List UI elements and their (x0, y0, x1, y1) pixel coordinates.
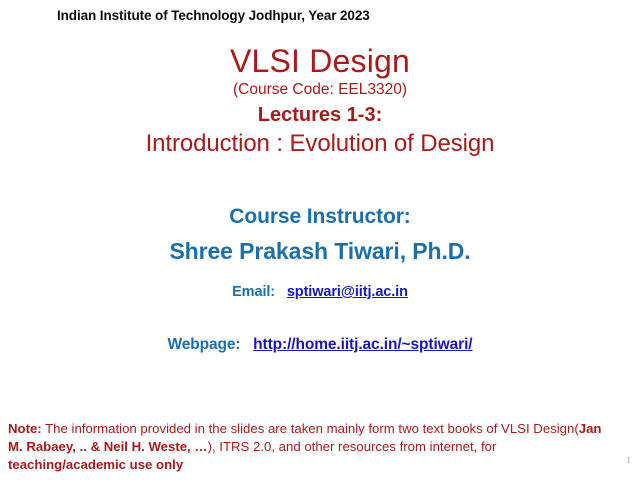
note-usage-clause: teaching/academic use only (8, 457, 183, 472)
lecture-range: Lectures 1-3: (0, 103, 640, 128)
email-label: Email: (232, 284, 275, 300)
title-block: VLSI Design (Course Code: EEL3320) Lectu… (0, 44, 640, 159)
slide-note: Note: The information provided in the sl… (8, 420, 606, 473)
webpage-row: Webpage: http://home.iitj.ac.in/~sptiwar… (0, 336, 640, 354)
course-instructor-label: Course Instructor: (0, 203, 640, 231)
note-prefix: Note: (8, 421, 42, 436)
slide-canvas: Indian Institute of Technology Jodhpur, … (0, 0, 640, 480)
course-code: (Course Code: EEL3320) (0, 80, 640, 100)
page-number: 1 (626, 456, 631, 466)
institute-header: Indian Institute of Technology Jodhpur, … (57, 8, 370, 23)
email-row: Email: sptiwari@iitj.ac.in (0, 284, 640, 300)
webpage-link[interactable]: http://home.iitj.ac.in/~sptiwari/ (253, 336, 472, 353)
note-text-part-1: The information provided in the slides a… (42, 421, 579, 436)
lecture-topic: Introduction : Evolution of Design (0, 129, 640, 159)
webpage-label: Webpage: (168, 336, 241, 353)
instructor-name: Shree Prakash Tiwari, Ph.D. (0, 236, 640, 267)
instructor-block: Course Instructor: Shree Prakash Tiwari,… (0, 203, 640, 267)
email-link[interactable]: sptiwari@iitj.ac.in (287, 284, 408, 300)
note-text-part-2: ), ITRS 2.0, and other resources from in… (208, 439, 497, 454)
course-title: VLSI Design (0, 44, 640, 79)
